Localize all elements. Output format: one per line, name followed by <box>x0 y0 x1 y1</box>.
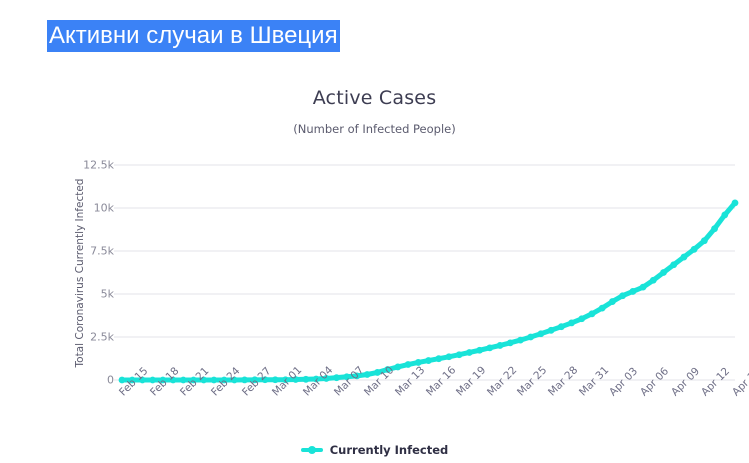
x-axis-tick-label: Apr 09 <box>669 365 702 398</box>
x-axis-tick-label: Feb 21 <box>178 365 211 398</box>
x-axis-tick-label: Apr 15 <box>730 365 749 398</box>
x-axis-tick-label: Mar 19 <box>454 364 488 398</box>
x-axis-tick-label: Feb 18 <box>148 365 181 398</box>
x-axis-tick-label: Apr 12 <box>699 365 732 398</box>
x-axis-tick-label: Apr 06 <box>638 365 671 398</box>
x-axis-ticks: Feb 15Feb 18Feb 21Feb 24Feb 27Mar 01Mar … <box>0 62 749 463</box>
chart-legend: Currently Infected <box>0 443 749 457</box>
legend-marker-currently-infected <box>301 448 323 452</box>
chart-card: Active Cases (Number of Infected People)… <box>0 62 749 463</box>
x-axis-tick-label: Mar 22 <box>485 364 519 398</box>
x-axis-tick-label: Mar 13 <box>393 364 427 398</box>
x-axis-tick-label: Mar 01 <box>270 364 304 398</box>
x-axis-tick-label: Mar 10 <box>362 364 396 398</box>
legend-label-currently-infected: Currently Infected <box>330 443 449 457</box>
x-axis-tick-label: Mar 07 <box>332 364 366 398</box>
x-axis-tick-label: Mar 04 <box>301 364 335 398</box>
x-axis-tick-label: Mar 31 <box>577 364 611 398</box>
plot-area: Total Coronavirus Currently Infected 02.… <box>0 62 749 463</box>
x-axis-tick-label: Feb 15 <box>117 365 150 398</box>
x-axis-tick-label: Mar 25 <box>515 364 549 398</box>
x-axis-tick-label: Mar 16 <box>424 364 458 398</box>
x-axis-tick-label: Feb 24 <box>209 365 242 398</box>
page-title: Активни случаи в Швеция <box>47 20 340 52</box>
x-axis-tick-label: Feb 27 <box>240 365 273 398</box>
x-axis-tick-label: Mar 28 <box>546 364 580 398</box>
x-axis-tick-label: Apr 03 <box>607 365 640 398</box>
